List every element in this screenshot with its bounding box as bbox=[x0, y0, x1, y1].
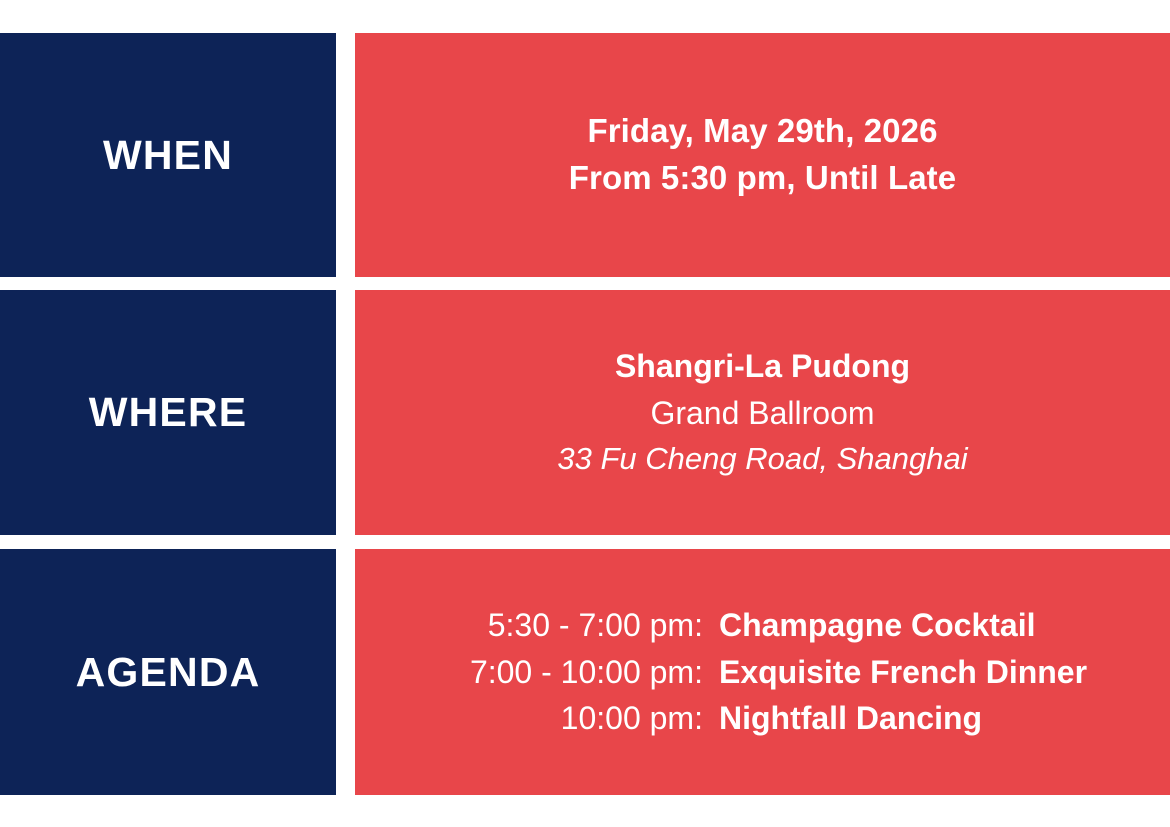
agenda-label: AGENDA bbox=[76, 652, 261, 693]
where-content-panel: Shangri-La Pudong Grand Ballroom 33 Fu C… bbox=[355, 290, 1170, 535]
agenda-item-time: 10:00 pm: bbox=[470, 695, 719, 742]
agenda-content-panel: 5:30 - 7:00 pm: Champagne Cocktail 7:00 … bbox=[355, 549, 1170, 795]
agenda-row-gutter bbox=[336, 549, 355, 795]
where-venue-name: Shangri-La Pudong bbox=[355, 343, 1170, 389]
when-row-gutter bbox=[336, 33, 355, 277]
agenda-schedule-table: 5:30 - 7:00 pm: Champagne Cocktail 7:00 … bbox=[470, 602, 1087, 742]
event-details-board: WHEN Friday, May 29th, 2026 From 5:30 pm… bbox=[0, 0, 1170, 827]
where-label-panel: WHERE bbox=[0, 290, 336, 535]
when-time-line: From 5:30 pm, Until Late bbox=[355, 155, 1170, 202]
where-row: WHERE Shangri-La Pudong Grand Ballroom 3… bbox=[0, 290, 1170, 535]
where-content-stack: Shangri-La Pudong Grand Ballroom 33 Fu C… bbox=[355, 343, 1170, 482]
agenda-content-stack: 5:30 - 7:00 pm: Champagne Cocktail 7:00 … bbox=[355, 602, 1170, 742]
agenda-item: 7:00 - 10:00 pm: Exquisite French Dinner bbox=[470, 649, 1087, 696]
where-hall-name: Grand Ballroom bbox=[355, 390, 1170, 436]
when-row: WHEN Friday, May 29th, 2026 From 5:30 pm… bbox=[0, 33, 1170, 277]
agenda-item-event: Exquisite French Dinner bbox=[719, 649, 1087, 696]
when-content-panel: Friday, May 29th, 2026 From 5:30 pm, Unt… bbox=[355, 33, 1170, 277]
agenda-item-event: Champagne Cocktail bbox=[719, 602, 1087, 649]
agenda-item-time: 5:30 - 7:00 pm: bbox=[470, 602, 719, 649]
where-row-gutter bbox=[336, 290, 355, 535]
agenda-row: AGENDA 5:30 - 7:00 pm: Champagne Cocktai… bbox=[0, 549, 1170, 795]
agenda-item-time: 7:00 - 10:00 pm: bbox=[470, 649, 719, 696]
agenda-item-event: Nightfall Dancing bbox=[719, 695, 1087, 742]
where-label: WHERE bbox=[89, 392, 248, 433]
when-label-panel: WHEN bbox=[0, 33, 336, 277]
agenda-label-panel: AGENDA bbox=[0, 549, 336, 795]
when-label: WHEN bbox=[103, 135, 233, 176]
where-street-address: 33 Fu Cheng Road, Shanghai bbox=[355, 436, 1170, 482]
agenda-item: 10:00 pm: Nightfall Dancing bbox=[470, 695, 1087, 742]
when-date-line: Friday, May 29th, 2026 bbox=[355, 108, 1170, 155]
agenda-item: 5:30 - 7:00 pm: Champagne Cocktail bbox=[470, 602, 1087, 649]
when-content-stack: Friday, May 29th, 2026 From 5:30 pm, Unt… bbox=[355, 108, 1170, 202]
